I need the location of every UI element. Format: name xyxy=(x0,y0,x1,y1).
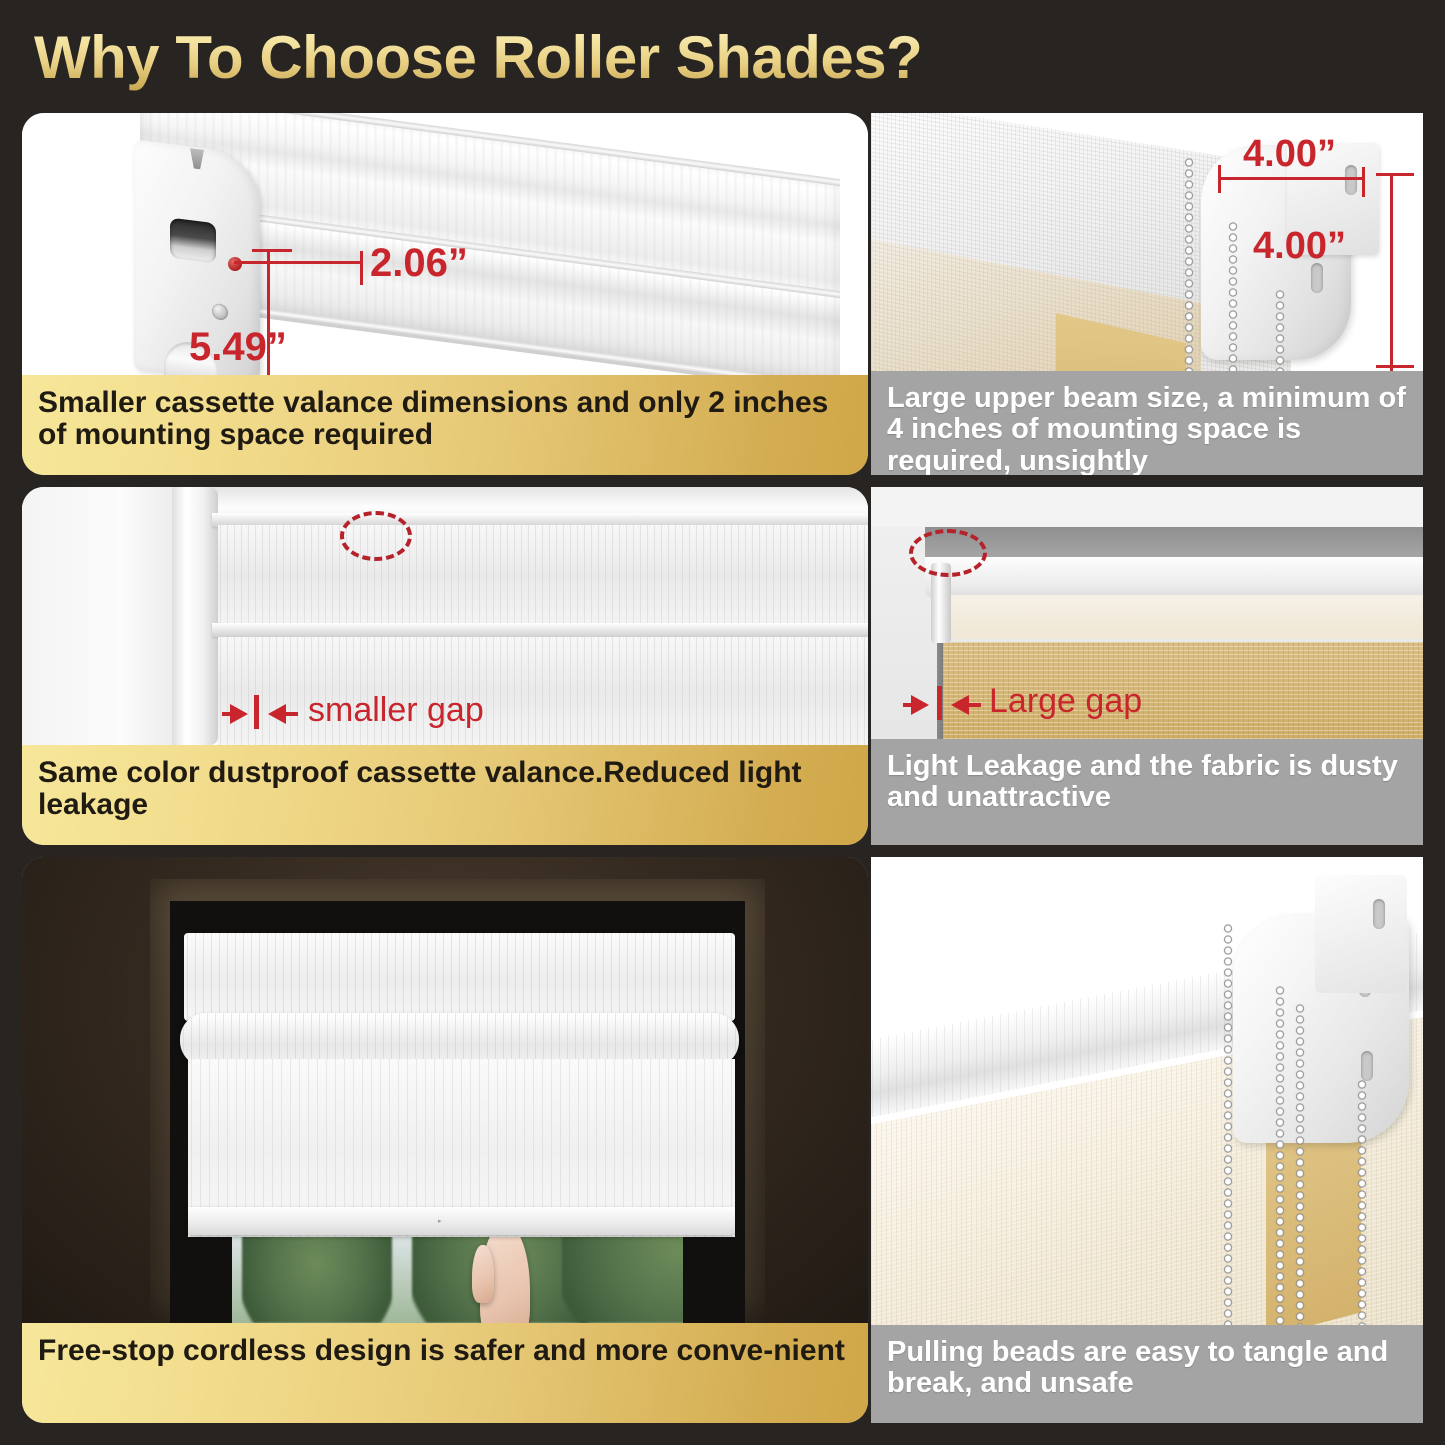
gap-arrow-left-icon xyxy=(268,704,286,724)
dim-height2-label: 4.00” xyxy=(1253,225,1346,268)
window-recess: ▸ xyxy=(170,901,745,1323)
highlight-ellipse-icon xyxy=(909,529,987,577)
end-cap-slot xyxy=(170,218,216,264)
gap-arrow-stem-a xyxy=(222,712,234,716)
bead-chain-3 xyxy=(1295,1003,1305,1325)
gap-arrow-stem-a xyxy=(903,703,915,707)
bead-chain-4 xyxy=(1357,1079,1367,1325)
dim-depth-label: 2.06” xyxy=(370,241,468,286)
panel-2-image: 4.00” 4.00” xyxy=(871,113,1423,371)
gap-callout-label: Large gap xyxy=(989,682,1142,721)
panel-2-caption-text: Large upper beam size, a minimum of 4 in… xyxy=(887,383,1407,475)
shade-cream-band xyxy=(937,595,1423,639)
panel-2: 4.00” 4.00” Large upper beam size, a min… xyxy=(871,113,1423,475)
panel-3-caption-band: Same color dustproof cassette valance.Re… xyxy=(22,745,868,845)
bead-chain-mid xyxy=(1228,221,1238,371)
cassette-valance xyxy=(184,933,735,1021)
panel-5-caption-band: Free-stop cordless design is safer and m… xyxy=(22,1323,868,1423)
infographic-root: Why To Choose Roller Shades? 5.49” xyxy=(0,0,1445,1445)
panel-3-caption-text: Same color dustproof cassette valance.Re… xyxy=(38,757,852,822)
panel-4-image: Large gap xyxy=(871,487,1423,739)
end-cap-tab xyxy=(190,148,204,170)
panel-6: Pulling beads are easy to tangle and bre… xyxy=(871,857,1423,1423)
dim-height-label: 5.49” xyxy=(189,325,287,370)
dim-width-label: 4.00” xyxy=(1243,133,1336,176)
gap-marker-bar xyxy=(254,695,259,729)
tree-right xyxy=(562,1231,683,1323)
shade-shadow-rail xyxy=(925,527,1423,561)
dim-width-line xyxy=(1219,177,1365,180)
end-cap-screw xyxy=(212,303,228,321)
panel-1: 5.49” 2.06” Smaller cassette valance dim… xyxy=(22,113,868,475)
panel-4-caption-text: Light Leakage and the fabric is dusty an… xyxy=(887,751,1407,814)
panel-4: Large gap Light Leakage and the fabric i… xyxy=(871,487,1423,845)
panel-5-image: ▸ xyxy=(22,857,868,1323)
bottom-rail-logo: ▸ xyxy=(438,1217,442,1225)
tree-left xyxy=(242,1231,392,1323)
cassette-mid-rail xyxy=(212,623,868,637)
cassette-valance-face xyxy=(218,525,868,627)
panel-4-caption-band: Light Leakage and the fabric is dusty an… xyxy=(871,739,1423,845)
gap-arrow-left-icon xyxy=(951,695,969,715)
arm-slot xyxy=(1345,165,1357,195)
panel-6-caption-band: Pulling beads are easy to tangle and bre… xyxy=(871,1325,1423,1423)
shade-white-rail xyxy=(925,557,1423,597)
panel-2-caption-band: Large upper beam size, a minimum of 4 in… xyxy=(871,371,1423,475)
window-frame: ▸ xyxy=(150,879,765,1323)
gap-callout-label: smaller gap xyxy=(308,691,484,730)
ceiling-strip xyxy=(871,487,1423,527)
bracket-mounting-arm xyxy=(1315,875,1407,993)
dim-width-tick-right xyxy=(1362,167,1365,197)
dim-height2-tick-bottom xyxy=(1376,365,1414,368)
panel-5: ▸ Free-stop cordless design is safer and… xyxy=(22,857,868,1423)
dim-depth-tick-right xyxy=(360,251,363,285)
bracket-slot-lower xyxy=(1361,1051,1373,1081)
gap-marker-bar xyxy=(937,686,942,720)
measure-origin-dot xyxy=(228,257,242,271)
panel-1-caption-band: Smaller cassette valance dimensions and … xyxy=(22,375,868,475)
highlight-ellipse-icon xyxy=(340,511,412,561)
bead-chain-2 xyxy=(1275,985,1285,1325)
panel-3: smaller gap Same color dustproof cassett… xyxy=(22,487,868,845)
gap-arrow-stem-b xyxy=(969,703,981,707)
bead-chain-left xyxy=(1184,157,1194,371)
panel-6-caption-text: Pulling beads are easy to tangle and bre… xyxy=(887,1337,1407,1400)
panel-5-caption-text: Free-stop cordless design is safer and m… xyxy=(38,1335,845,1367)
panel-1-caption-text: Smaller cassette valance dimensions and … xyxy=(38,387,852,452)
dim-height2-line xyxy=(1390,173,1393,371)
window-glass xyxy=(232,1231,683,1323)
arm-slot xyxy=(1373,899,1385,929)
panel-3-image: smaller gap xyxy=(22,487,868,745)
gap-arrow-stem-b xyxy=(286,712,298,716)
panel-6-image xyxy=(871,857,1423,1325)
hand-thumb xyxy=(472,1245,494,1303)
dim-height-tick-top xyxy=(252,249,292,252)
page-title: Why To Choose Roller Shades? xyxy=(34,22,1034,94)
bead-chain-1 xyxy=(1223,923,1233,1325)
dim-height2-tick-top xyxy=(1376,173,1414,176)
shade-bottom-rail xyxy=(188,1207,735,1235)
dim-width-tick-left xyxy=(1218,165,1221,193)
dim-depth-line xyxy=(234,261,362,264)
bead-chain-right xyxy=(1275,289,1285,371)
panel-1-image: 5.49” 2.06” xyxy=(22,113,868,375)
